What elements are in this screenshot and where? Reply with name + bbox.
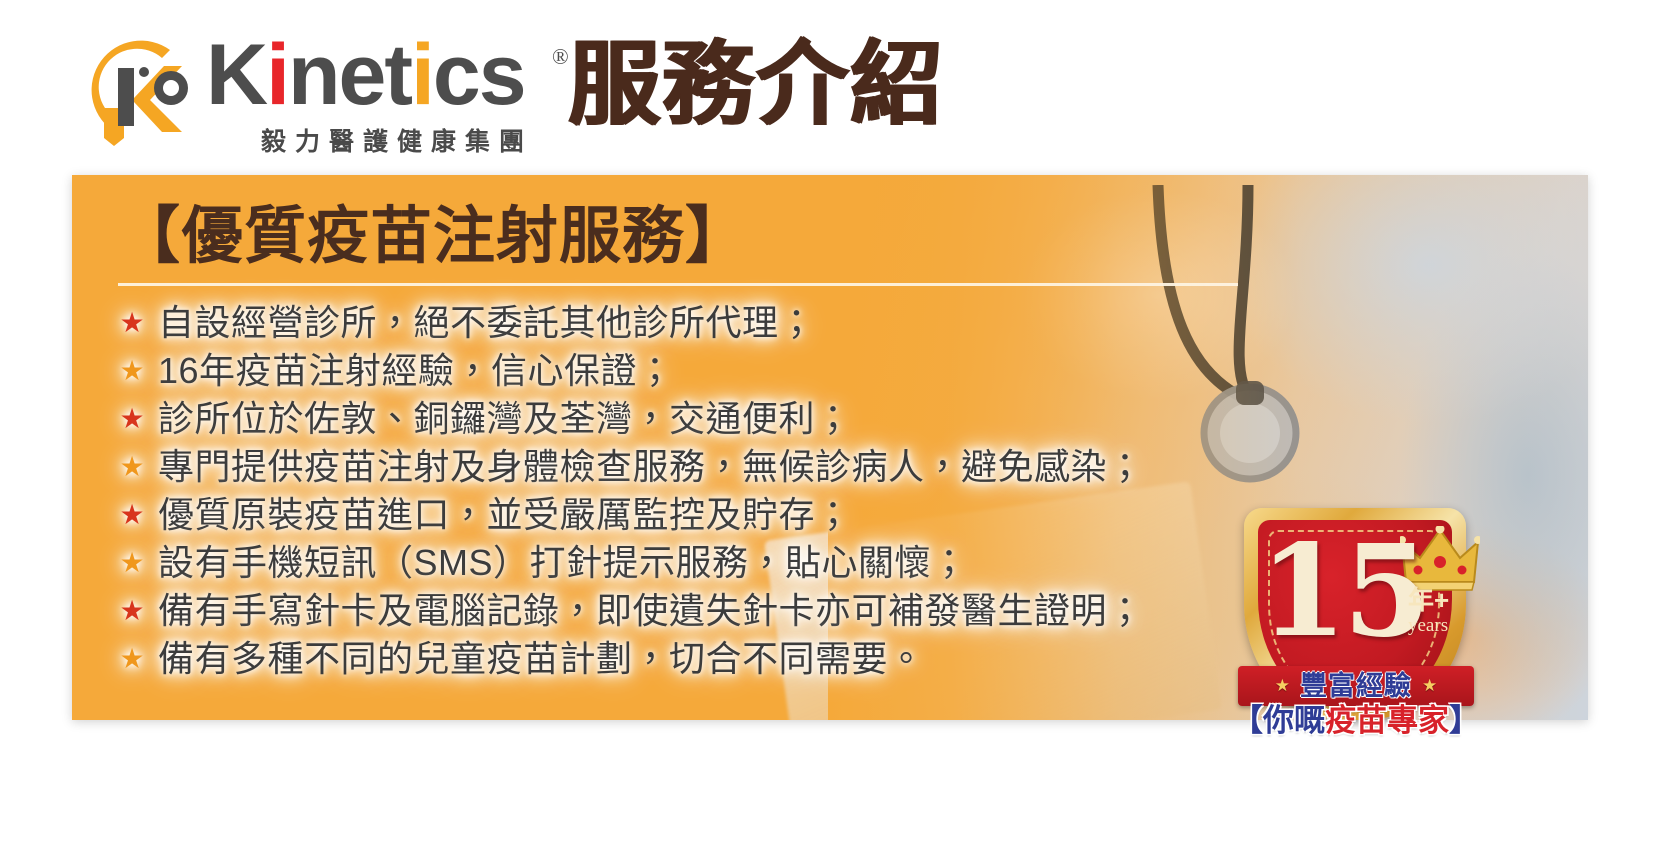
page-title: 服務介紹 bbox=[568, 32, 944, 136]
wordmark-i-orange: i bbox=[411, 27, 433, 123]
list-item: ★ 備有多種不同的兒童疫苗計劃，切合不同需要。 bbox=[106, 635, 1306, 683]
logo-subtitle: 毅力醫護健康集團 bbox=[261, 122, 533, 158]
page-header: Kinetics ® 毅力醫護健康集團 服務介紹 bbox=[0, 0, 1667, 172]
service-feature-list: ★ 自設經營診所，絕不委託其他診所代理； ★ 16年疫苗注射經驗，信心保證； ★… bbox=[106, 299, 1306, 683]
badge-ribbon-label: 豐富經驗 bbox=[1300, 671, 1412, 701]
badge-number: 15 bbox=[1258, 516, 1428, 666]
list-item-label: 設有手機短訊（SMS）打針提示服務，貼心關懷； bbox=[158, 539, 968, 587]
heading-divider bbox=[118, 283, 1238, 286]
tagline-highlight: 疫苗專家 bbox=[1325, 703, 1449, 738]
registered-trademark-icon: ® bbox=[552, 44, 569, 70]
list-item: ★ 16年疫苗注射經驗，信心保證； bbox=[106, 347, 1306, 395]
list-item: ★ 備有手寫針卡及電腦記錄，即使遺失針卡亦可補發醫生證明； bbox=[106, 587, 1306, 635]
kinetics-logo: Kinetics ® 毅力醫護健康集團 bbox=[78, 26, 518, 150]
badge-years-english: years bbox=[1408, 616, 1448, 636]
anniversary-badge: 15 年+ years ★ 豐富經驗 ★ 【你嘅疫苗專家】 bbox=[1232, 498, 1480, 748]
tagline-open-bracket: 【你嘅 bbox=[1232, 703, 1325, 738]
list-item: ★ 診所位於佐敦、銅鑼灣及荃灣，交通便利； bbox=[106, 395, 1306, 443]
list-item: ★ 專門提供疫苗注射及身體檢查服務，無候診病人，避免感染； bbox=[106, 443, 1306, 491]
wordmark-k: K bbox=[206, 27, 266, 123]
list-item-label: 16年疫苗注射經驗，信心保證； bbox=[158, 347, 674, 395]
banner-heading: 【優質疫苗注射服務】 bbox=[118, 200, 748, 272]
list-item-label: 自設經營診所，絕不委託其他診所代理； bbox=[158, 299, 815, 347]
list-item: ★ 優質原裝疫苗進口，並受嚴厲監控及貯存； bbox=[106, 491, 1306, 539]
star-icon: ★ bbox=[106, 395, 158, 443]
star-icon: ★ bbox=[106, 347, 158, 395]
wordmark-cs: cs bbox=[433, 27, 525, 123]
list-item: ★ 自設經營診所，絕不委託其他診所代理； bbox=[106, 299, 1306, 347]
list-item-label: 備有手寫針卡及電腦記錄，即使遺失針卡亦可補發醫生證明； bbox=[158, 587, 1144, 635]
list-item-label: 優質原裝疫苗進口，並受嚴厲監控及貯存； bbox=[158, 491, 852, 539]
ribbon-star-left-icon: ★ bbox=[1275, 676, 1290, 696]
star-icon: ★ bbox=[106, 491, 158, 539]
star-icon: ★ bbox=[106, 539, 158, 587]
list-item: ★ 設有手機短訊（SMS）打針提示服務，貼心關懷； bbox=[106, 539, 1306, 587]
tagline-close-bracket: 】 bbox=[1449, 703, 1480, 738]
star-icon: ★ bbox=[106, 635, 158, 683]
star-icon: ★ bbox=[106, 587, 158, 635]
list-item-label: 專門提供疫苗注射及身體檢查服務，無候診病人，避免感染； bbox=[158, 443, 1144, 491]
ribbon-star-right-icon: ★ bbox=[1422, 676, 1437, 696]
wordmark-i-red: i bbox=[266, 27, 288, 123]
list-item-label: 備有多種不同的兒童疫苗計劃，切合不同需要。 bbox=[158, 635, 925, 683]
badge-ribbon: ★ 豐富經驗 ★ bbox=[1238, 666, 1474, 706]
kinetics-k-logo-icon bbox=[78, 28, 204, 146]
wordmark-net: net bbox=[288, 27, 411, 123]
service-intro-banner-page: Kinetics ® 毅力醫護健康集團 服務介紹 【優質疫苗注射服務】 bbox=[0, 0, 1667, 848]
list-item-label: 診所位於佐敦、銅鑼灣及荃灣，交通便利； bbox=[158, 395, 852, 443]
kinetics-wordmark: Kinetics bbox=[206, 32, 525, 118]
star-icon: ★ bbox=[106, 299, 158, 347]
badge-tagline: 【你嘅疫苗專家】 bbox=[1232, 703, 1480, 739]
star-icon: ★ bbox=[106, 443, 158, 491]
badge-year-label: 年+ bbox=[1408, 586, 1449, 614]
